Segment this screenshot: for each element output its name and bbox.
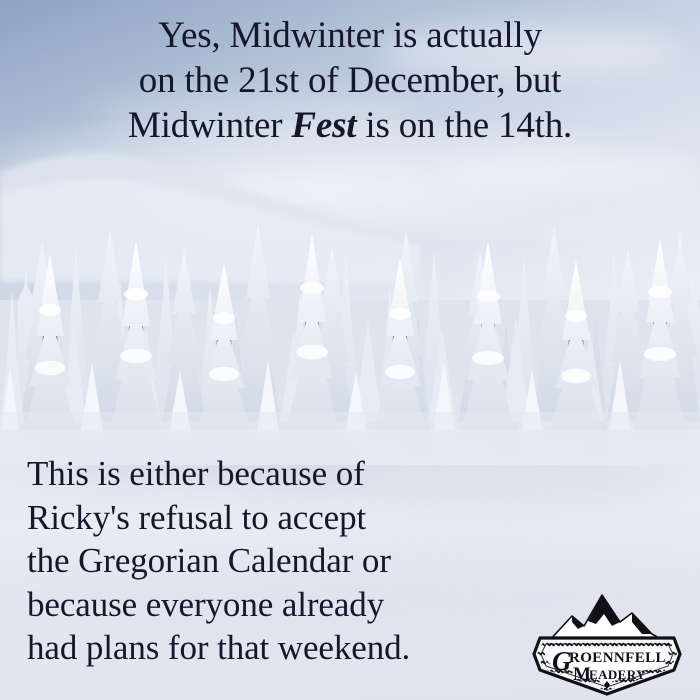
top-caption-line-3: Midwinter Fest is on the 14th. [0,103,700,148]
meme-image: Yes, Midwinter is actually on the 21st o… [0,0,700,700]
top-caption-emphasis-fest: Fest [291,105,356,146]
top-caption-line-3-post: is on the 14th. [356,105,572,146]
groennfell-meadery-logo: G ROENNFELL M EADERY [528,586,686,698]
bottom-caption-line-3: the Gregorian Calendar or [27,539,557,583]
bottom-caption-line-2: Ricky's refusal to accept [27,496,557,540]
top-caption-line-3-pre: Midwinter [128,105,291,146]
bottom-caption-line-1: This is either because of [27,452,557,496]
forest-front-layer [0,190,700,465]
logo-text-meadery: EADERY [589,667,646,682]
bottom-caption-line-5: had plans for that weekend. [27,626,557,670]
top-caption: Yes, Midwinter is actually on the 21st o… [0,13,700,148]
mountain-icon [548,595,666,642]
top-caption-line-2: on the 21st of December, but [0,58,700,103]
top-caption-line-1: Yes, Midwinter is actually [0,13,700,58]
bottom-caption: This is either because of Ricky's refusa… [27,452,557,670]
bottom-caption-line-4: because everyone already [27,583,557,627]
